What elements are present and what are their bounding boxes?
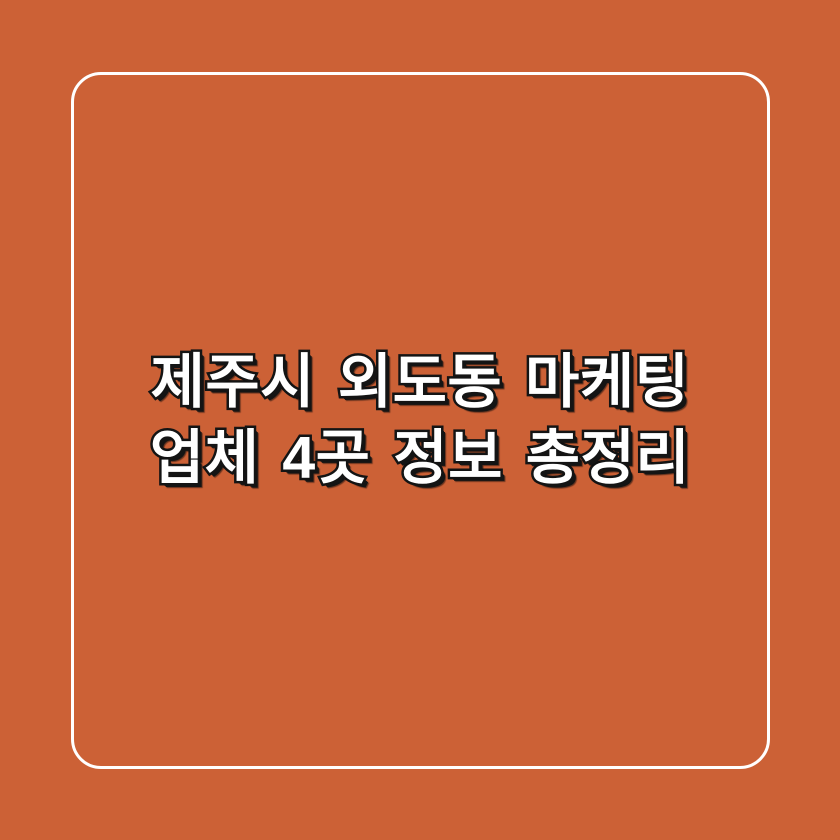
poster-canvas: 제주시 외도동 마케팅 업체 4곳 정보 총정리 [0, 0, 840, 840]
headline-line-2: 업체 4곳 정보 총정리 [86, 420, 754, 496]
headline-block: 제주시 외도동 마케팅 업체 4곳 정보 총정리 [0, 344, 840, 496]
headline-line-1: 제주시 외도동 마케팅 [86, 344, 754, 420]
